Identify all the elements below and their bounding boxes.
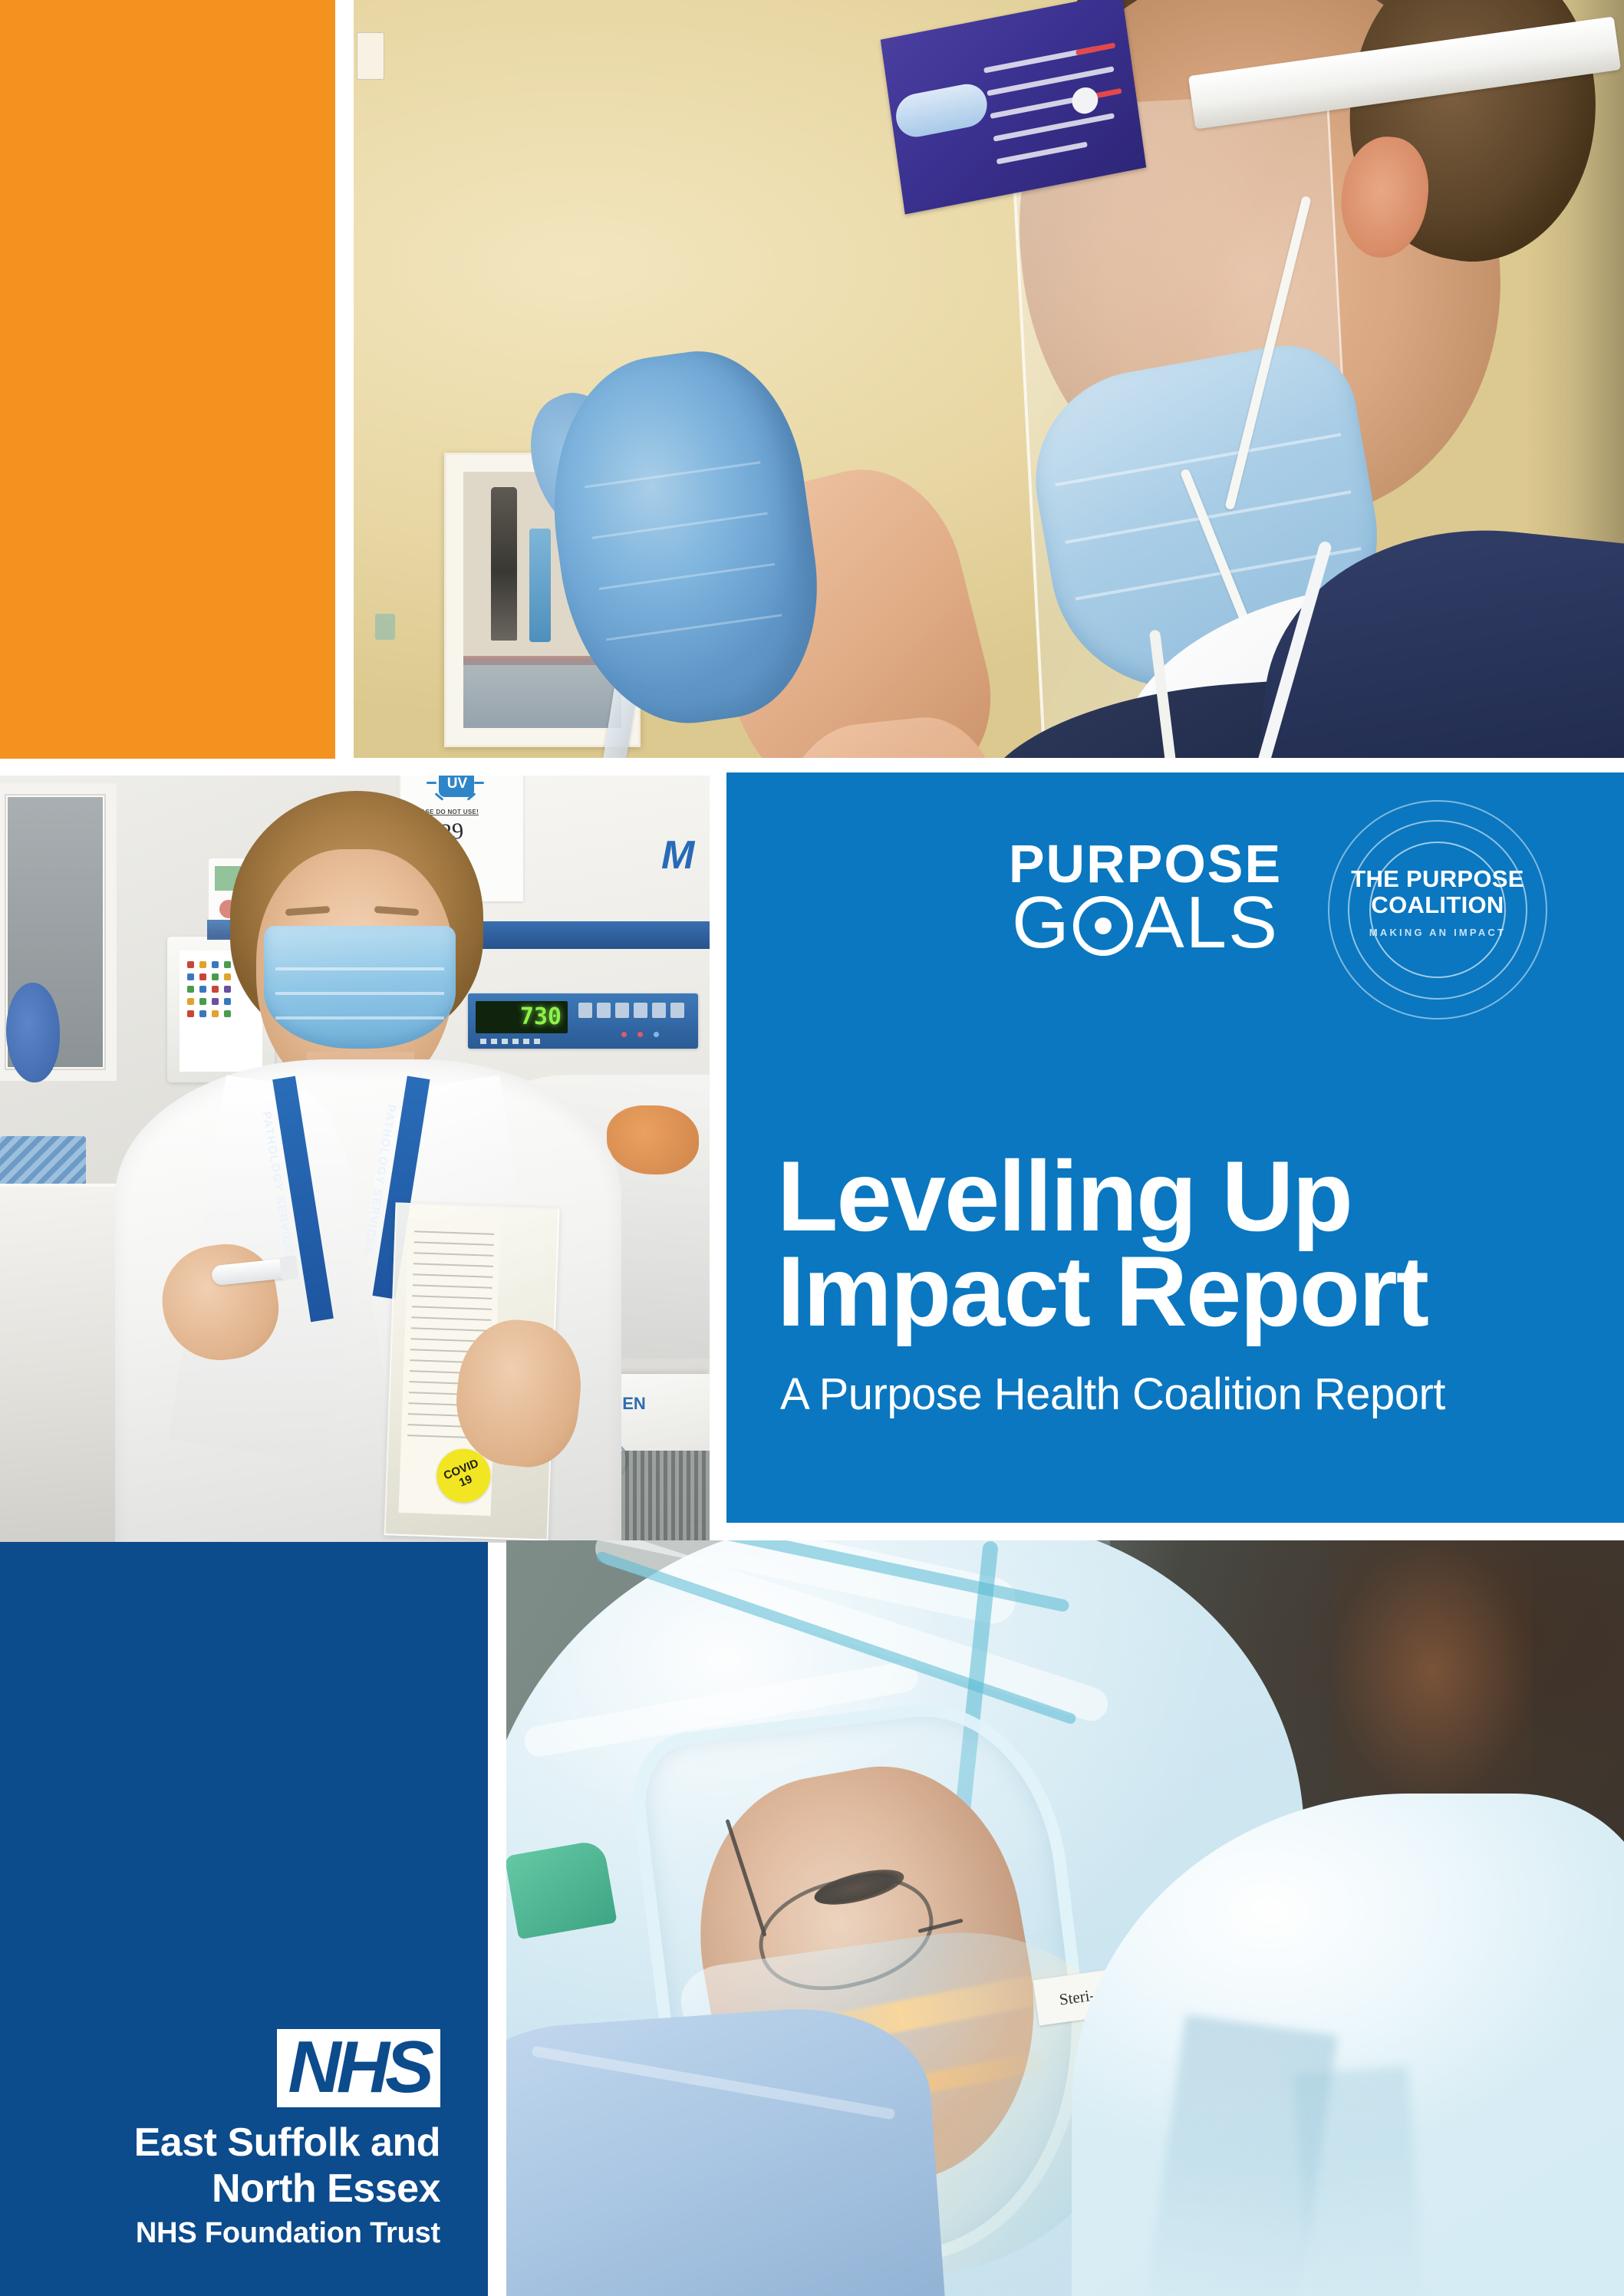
purpose-goals-line-2: G ALS	[984, 888, 1306, 958]
purpose-goals-als: ALS	[1135, 881, 1279, 964]
freezer-control-panel[interactable]: 730	[468, 993, 698, 1049]
title-panel: PURPOSE G ALS THE PURPOSE COALITION MAKI…	[726, 772, 1624, 1523]
wall-sticker	[375, 614, 395, 640]
freezer-status-leds	[621, 1027, 670, 1041]
purpose-coalition-badge: THE PURPOSE COALITION MAKING AN IMPACT	[1326, 799, 1549, 1021]
badge-line-1: THE PURPOSE	[1326, 866, 1549, 892]
nurse-preparing-vaccine-photo	[354, 0, 1624, 758]
nhs-trust-line-1: East Suffolk and	[0, 2120, 440, 2166]
shield-brand-pill	[893, 81, 990, 140]
orange-accent-block	[0, 0, 335, 759]
freezer-indicator-strip	[480, 1039, 542, 1044]
scientist-surgical-mask	[264, 926, 456, 1049]
nhs-trust-line-2: North Essex	[0, 2166, 440, 2212]
nhs-trust-line-3: NHS Foundation Trust	[0, 2216, 440, 2250]
laboratory-scientist-photo: M UV PLEASE DO NOT USE! 16:29 Gm 730	[0, 776, 710, 1543]
purpose-goals-g: G	[1012, 881, 1071, 964]
freezer-keypad[interactable]	[578, 1003, 689, 1022]
nhs-wordmark: NHS	[288, 2026, 430, 2108]
hood-green-tab	[506, 1840, 618, 1940]
page-title-line-2: Impact Report	[777, 1244, 1593, 1339]
purpose-goals-target-o	[1071, 894, 1135, 958]
lab-blue-item	[6, 983, 60, 1082]
freezer-display: 730	[476, 1001, 568, 1033]
lab-orange-supplies	[607, 1105, 699, 1174]
badge-line-2: COALITION	[1326, 892, 1549, 918]
sticker-line-2: 19	[458, 1474, 474, 1490]
freezer-brand-label: M	[661, 835, 693, 875]
uv-label: UV	[440, 776, 474, 798]
background-person	[1332, 1540, 1532, 1801]
page-title-line-1: Levelling Up	[777, 1148, 1593, 1244]
surgeon-blue-gown	[506, 2000, 947, 2296]
wall-switch	[357, 32, 384, 80]
badge-tagline: MAKING AN IMPACT	[1326, 927, 1549, 938]
frame-object-dark	[491, 487, 517, 641]
purpose-goals-logo: PURPOSE G ALS	[984, 837, 1306, 958]
nhs-trust-panel: NHS East Suffolk and North Essex NHS Fou…	[0, 1542, 488, 2296]
page-subtitle: A Purpose Health Coalition Report	[780, 1371, 1593, 1418]
report-cover-page: M UV PLEASE DO NOT USE! 16:29 Gm 730	[0, 0, 1624, 2296]
nhs-wordmark-badge: NHS	[277, 2029, 440, 2107]
shield-label-dot	[1070, 85, 1099, 116]
frame-object-blue	[529, 529, 551, 642]
nhs-logo: NHS East Suffolk and North Essex NHS Fou…	[0, 2029, 440, 2250]
page-title: Levelling Up Impact Report	[777, 1148, 1593, 1339]
surgeon-in-hood-photo: Steri-Sh	[506, 1540, 1624, 2296]
